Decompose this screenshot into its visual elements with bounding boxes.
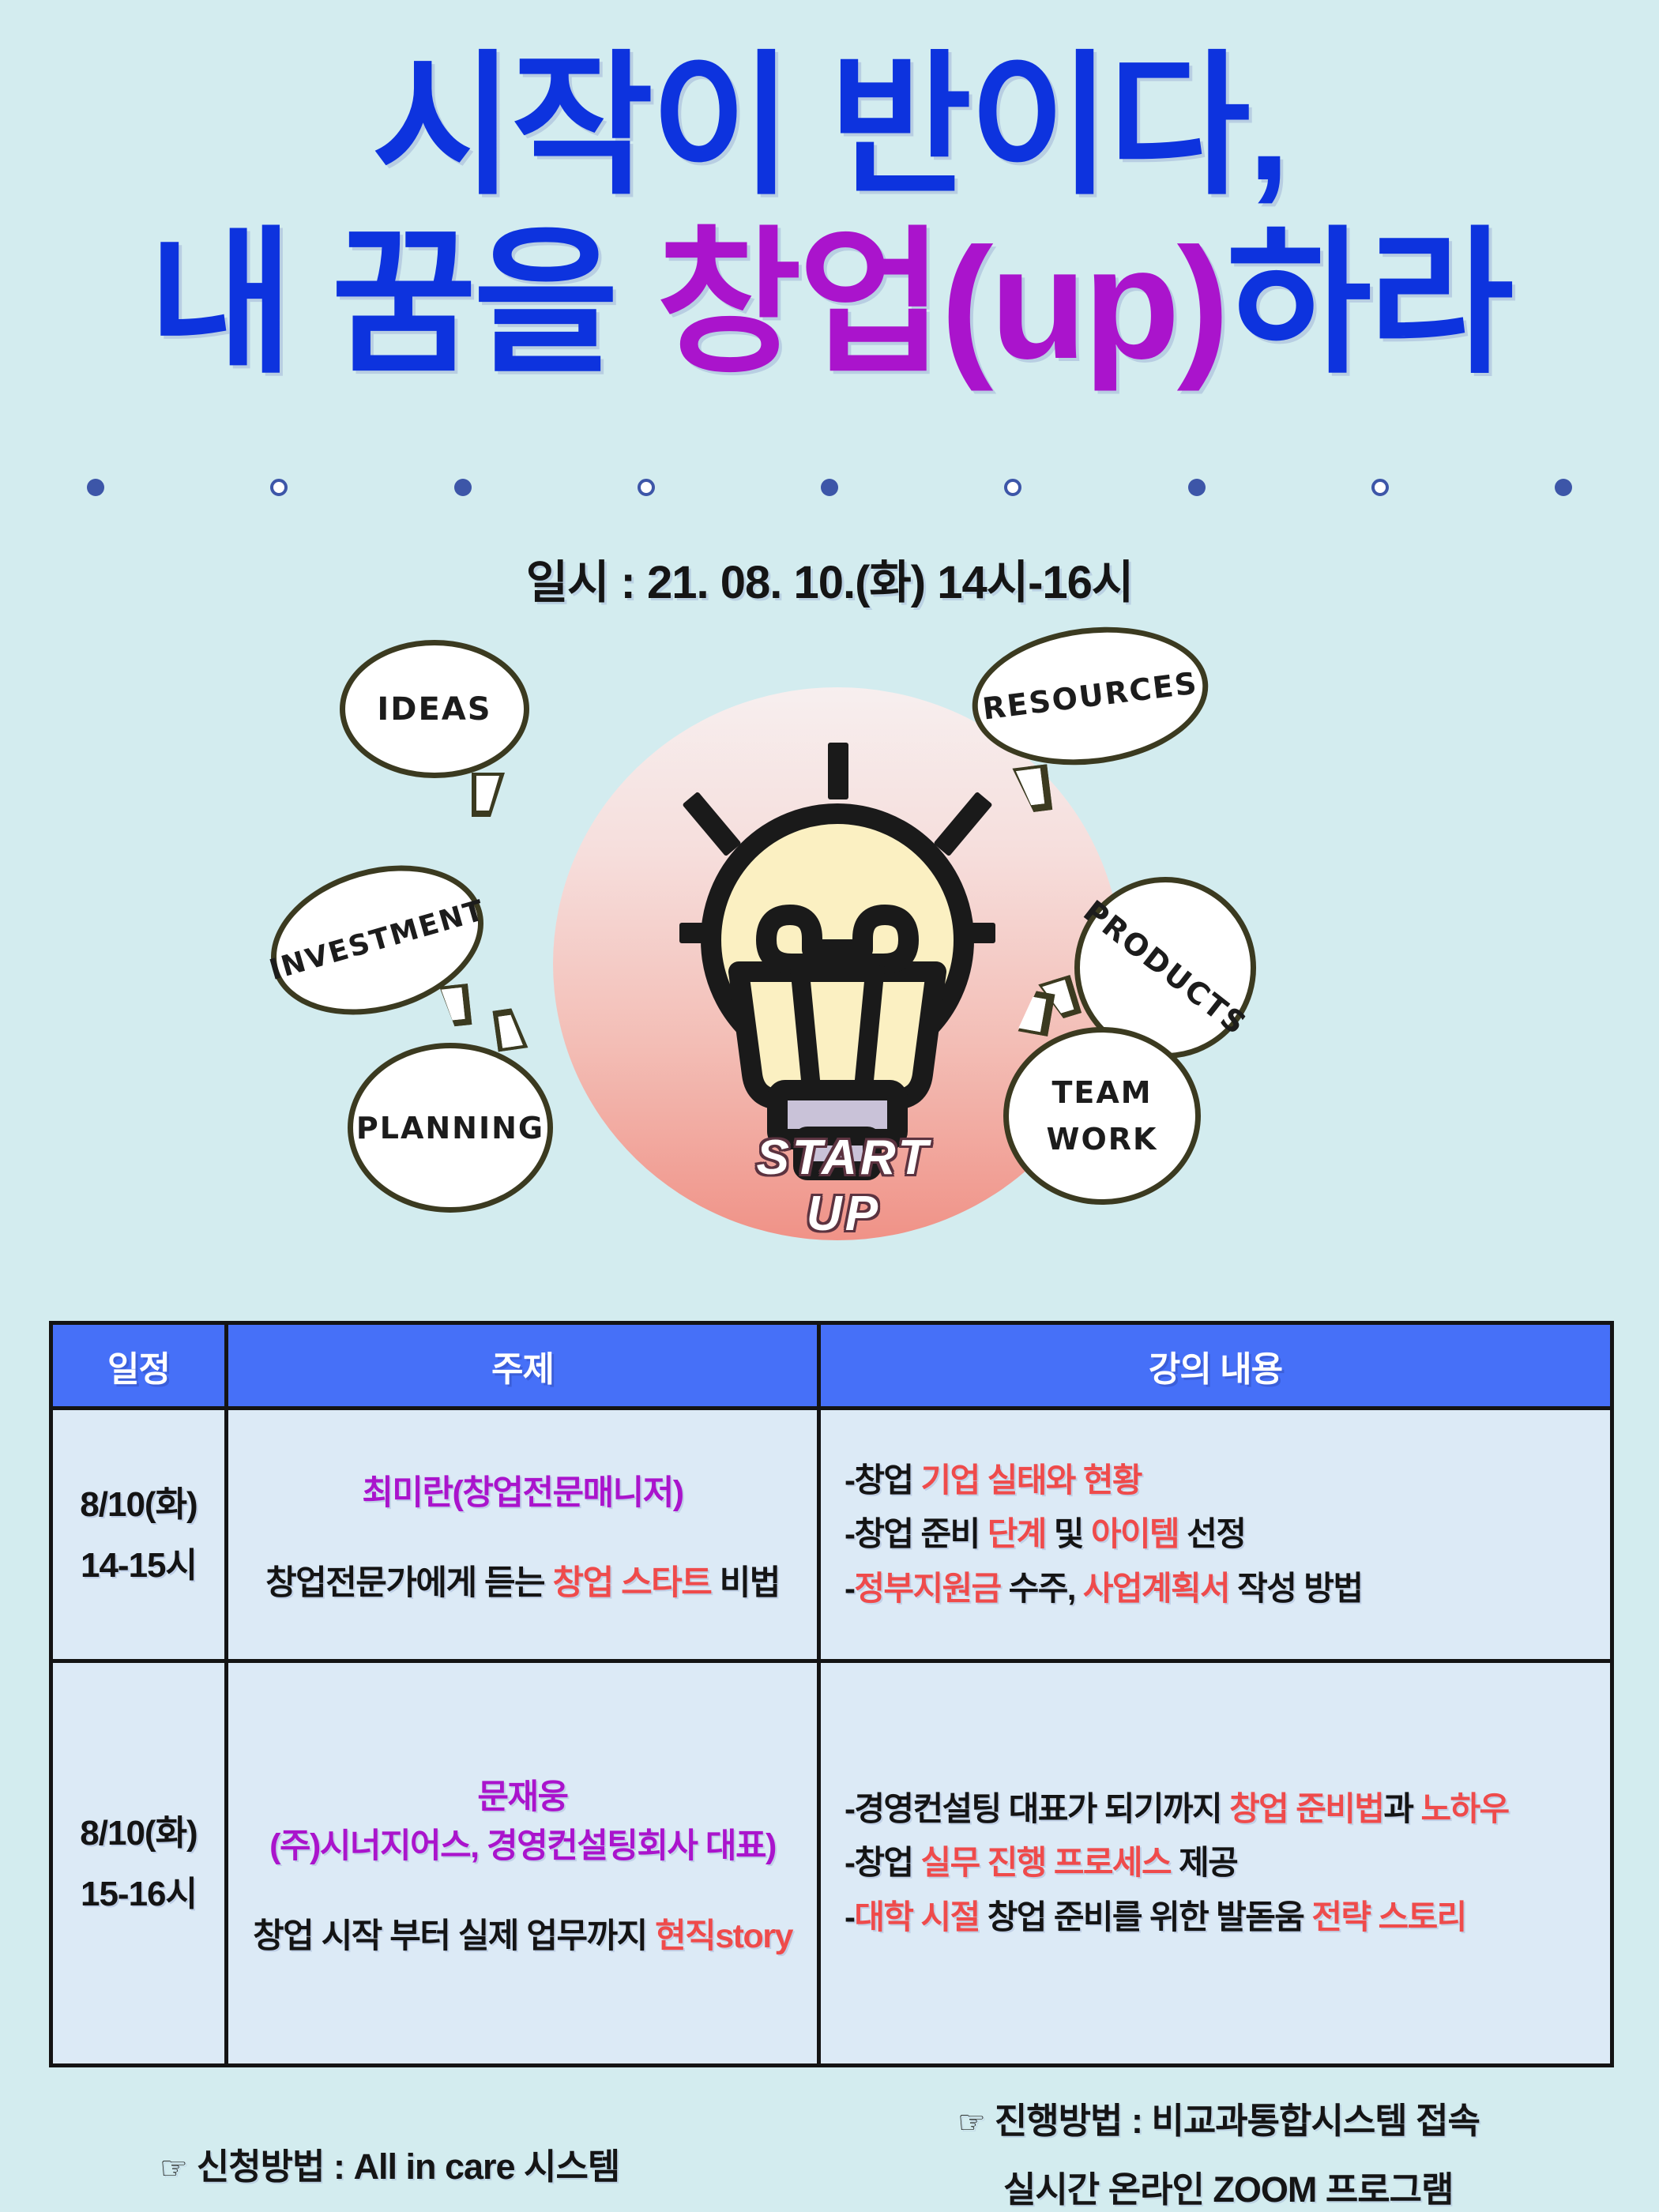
speech-bubble-ideas: IDEAS	[340, 640, 529, 778]
pointing-hand-icon: ☞	[957, 2105, 985, 2141]
row2-when-date: 8/10(화)	[80, 1814, 197, 1853]
seg: 대학 시절	[854, 1898, 979, 1935]
seg: 수주,	[1001, 1570, 1083, 1607]
seg: 과	[1383, 1790, 1420, 1827]
row2-topic: 문재웅 (주)시너지어스, 경영컨설팅회사 대표) 창업 시작 부터 실제 업무…	[227, 1661, 819, 2066]
seg: -창업	[845, 1461, 921, 1499]
divider-dot	[454, 479, 472, 496]
bubble-tail-icon	[472, 773, 505, 817]
title-line-2-pre: 내 꿈을	[149, 216, 656, 392]
footer-how-subtext: 실시간 온라인 ZOOM 프로그램	[1003, 2161, 1480, 2212]
row2-speaker-affiliation: (주)시너지어스, 경영컨설팅회사 대표)	[246, 1819, 799, 1868]
row2-desc-line-1: -경영컨설팅 대표가 되기까지 창업 준비법과 노하우	[845, 1782, 1596, 1836]
dot-divider	[87, 474, 1572, 501]
schedule-table: 일정 주제 강의 내용 8/10(화) 14-15시 최미란(창업전문매니저) …	[49, 1321, 1614, 2067]
seg: 단계	[987, 1515, 1046, 1552]
divider-dot	[1188, 479, 1206, 496]
bubble-label-ideas: IDEAS	[377, 691, 491, 728]
row1-topic-sub-accent: 창업 스타트	[553, 1564, 712, 1602]
topic-spacer	[246, 1868, 799, 1909]
startup-illustration: START UP IDEAS RESOURCES INVESTMENT PROD…	[340, 640, 1319, 1288]
speech-bubble-team-work: TEAMWORK	[1003, 1027, 1201, 1205]
bubble-label-planning: PLANNING	[356, 1111, 544, 1145]
row1-desc-line-2: -창업 준비 단계 및 아이템 선정	[845, 1507, 1596, 1561]
table-header-desc: 강의 내용	[819, 1323, 1612, 1409]
divider-dot	[638, 479, 655, 496]
row2-speaker: 문재웅	[246, 1770, 799, 1819]
seg: -	[845, 1898, 854, 1935]
seg: -경영컨설팅 대표가 되기까지	[845, 1790, 1229, 1827]
seg: 창업 준비를 위한 발돋움	[980, 1898, 1312, 1935]
lightbulb-icon	[679, 743, 995, 1185]
start-up-label: START UP	[717, 1130, 970, 1242]
bubble-label-products: PRODUCTS	[1077, 893, 1253, 1042]
row2-topic-subtitle: 창업 시작 부터 실제 업무까지 현직story	[246, 1909, 799, 1958]
seg: 창업 준비법	[1229, 1790, 1383, 1827]
row1-when: 8/10(화) 14-15시	[51, 1409, 227, 1661]
pointing-hand-icon: ☞	[160, 2150, 187, 2187]
seg: 정부지원금	[854, 1570, 1000, 1607]
row2-desc-line-3: -대학 시절 창업 준비를 위한 발돋움 전략 스토리	[845, 1890, 1596, 1944]
row1-desc-line-1: -창업 기업 실태와 현황	[845, 1454, 1596, 1507]
seg: 아이템	[1091, 1515, 1179, 1552]
seg: 선정	[1179, 1515, 1245, 1552]
poster-root: 시작이 반이다, 내 꿈을 창업(up)하라 일시 : 21. 08. 10.(…	[0, 0, 1659, 2212]
seg: 제공	[1171, 1844, 1237, 1881]
table-row: 8/10(화) 15-16시 문재웅 (주)시너지어스, 경영컨설팅회사 대표)…	[51, 1661, 1612, 2066]
seg: 노하우	[1420, 1790, 1508, 1827]
footer-delivery-method: ☞진행방법 : 비교과통합시스템 접속실시간 온라인 ZOOM 프로그램	[957, 2092, 1480, 2212]
row2-desc-line-2: -창업 실무 진행 프로세스 제공	[845, 1836, 1596, 1890]
row2-when-time: 15-16시	[81, 1875, 197, 1913]
footer-apply-method: ☞신청방법 : All in care 시스템	[160, 2138, 619, 2189]
divider-dot	[87, 479, 104, 496]
bubble-tail-icon	[493, 1007, 529, 1052]
seg: 및	[1046, 1515, 1091, 1552]
row1-when-time: 14-15시	[81, 1546, 197, 1585]
bubble-tail-icon	[1012, 764, 1052, 814]
bubble-label-work: WORK	[1047, 1122, 1158, 1157]
table-header-topic: 주제	[227, 1323, 819, 1409]
table-header-row: 일정 주제 강의 내용	[51, 1323, 1612, 1409]
title-accent-changeop: 창업(up)	[656, 216, 1227, 392]
row2-desc: -경영컨설팅 대표가 되기까지 창업 준비법과 노하우 -창업 실무 진행 프로…	[819, 1661, 1612, 2066]
table-row: 8/10(화) 14-15시 최미란(창업전문매니저) 창업전문가에게 듣는 창…	[51, 1409, 1612, 1661]
poster-footer: ☞신청방법 : All in care 시스템 ☞진행방법 : 비교과통합시스템…	[49, 2092, 1610, 2195]
seg: 사업계획서	[1083, 1570, 1229, 1607]
row2-topic-sub-pre: 창업 시작 부터 실제 업무까지	[253, 1917, 655, 1955]
speech-bubble-planning: PLANNING	[348, 1043, 553, 1213]
event-datetime: 일시 : 21. 08. 10.(화) 14시-16시	[0, 545, 1659, 611]
topic-spacer	[246, 1514, 799, 1556]
seg: -창업 준비	[845, 1515, 987, 1552]
bubble-label-team-work: TEAMWORK	[1047, 1070, 1158, 1163]
bubble-label-resources: RESOURCES	[980, 665, 1200, 726]
divider-dot	[1555, 479, 1572, 496]
title-line-2: 내 꿈을 창업(up)하라	[0, 214, 1659, 394]
speech-bubble-investment: INVESTMENT	[254, 842, 502, 1039]
bubble-label-investment: INVESTMENT	[266, 893, 489, 986]
row2-when: 8/10(화) 15-16시	[51, 1661, 227, 2066]
bubble-tail-icon	[439, 984, 472, 1027]
row1-topic-sub-post: 비법	[711, 1564, 780, 1602]
row1-speaker: 최미란(창업전문매니저)	[246, 1465, 799, 1514]
row1-topic-subtitle: 창업전문가에게 듣는 창업 스타트 비법	[246, 1556, 799, 1604]
divider-dot	[821, 479, 838, 496]
row1-desc-line-3: -정부지원금 수주, 사업계획서 작성 방법	[845, 1562, 1596, 1616]
row1-topic-sub-pre: 창업전문가에게 듣는	[265, 1564, 552, 1602]
divider-dot	[1371, 479, 1389, 496]
poster-title: 시작이 반이다, 내 꿈을 창업(up)하라	[0, 38, 1659, 394]
row2-topic-sub-accent: 현직story	[655, 1917, 792, 1955]
row1-desc: -창업 기업 실태와 현황 -창업 준비 단계 및 아이템 선정 -정부지원금 …	[819, 1409, 1612, 1661]
title-line-1: 시작이 반이다,	[0, 38, 1659, 214]
footer-apply-text: 신청방법 : All in care 시스템	[197, 2146, 619, 2187]
divider-dot	[270, 479, 288, 496]
divider-dot	[1004, 479, 1021, 496]
row1-topic: 최미란(창업전문매니저) 창업전문가에게 듣는 창업 스타트 비법	[227, 1409, 819, 1661]
seg: 작성 방법	[1229, 1570, 1362, 1607]
title-line-2-post: 하라	[1226, 216, 1510, 392]
footer-divider	[49, 2063, 1610, 2067]
seg: 실무 진행 프로세스	[921, 1844, 1171, 1881]
seg: -창업	[845, 1844, 921, 1881]
seg: -	[845, 1570, 854, 1607]
seg: 전략 스토리	[1311, 1898, 1465, 1935]
footer-how-text: 진행방법 : 비교과통합시스템 접속	[995, 2101, 1480, 2141]
seg: 기업 실태와 현황	[921, 1461, 1142, 1499]
row1-when-date: 8/10(화)	[80, 1485, 197, 1524]
bubble-label-team: TEAM	[1051, 1075, 1152, 1110]
table-header-when: 일정	[51, 1323, 227, 1409]
